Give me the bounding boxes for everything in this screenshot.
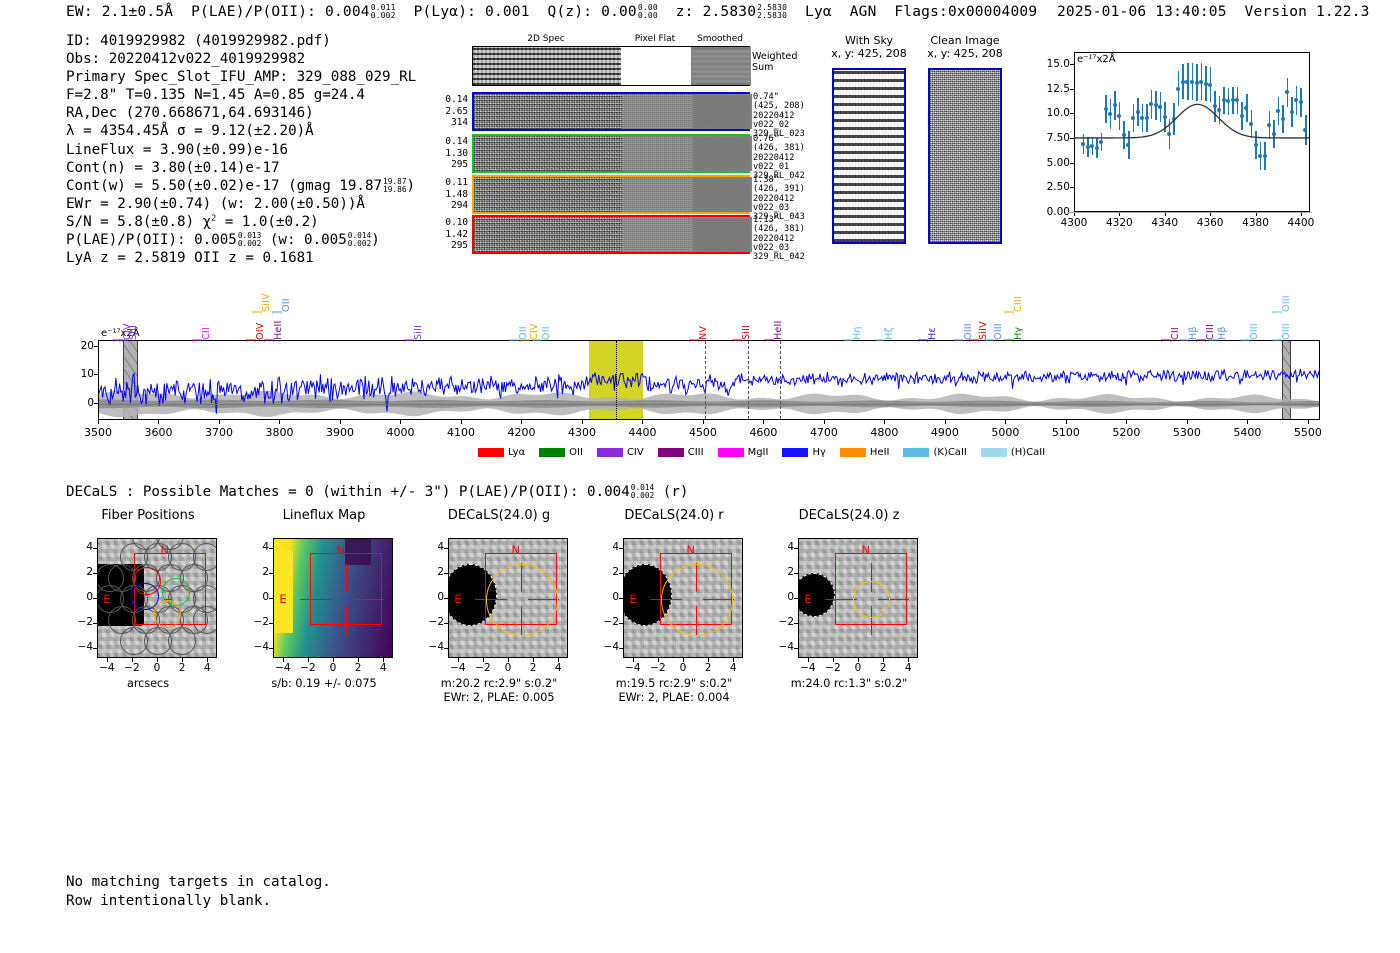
- emission-bracket-7: ⟦: [403, 338, 414, 343]
- info-id: ID: 4019929982 (4019929982.pdf): [66, 32, 416, 50]
- spec-ytick-2: [94, 346, 98, 347]
- panel-2-sub2: EWr: 2, PLAE: 0.005: [408, 691, 590, 704]
- fiber-row-3-2dspec: [474, 217, 622, 252]
- panel-3-xtick-4: 4: [719, 662, 747, 674]
- compass-north-2: N: [511, 543, 520, 557]
- panel-1-xtickmark-0: [283, 658, 284, 662]
- spec-xtick-17: [1126, 420, 1127, 424]
- panel-3-ytick-4: −4: [597, 641, 619, 653]
- panel-2-ytick-4: −4: [422, 641, 444, 653]
- z-range: 2.58302.5830: [757, 4, 787, 20]
- compass-north-4: N: [861, 543, 870, 557]
- panel-2-xtickmark-1: [483, 658, 484, 662]
- emission-label-HeII-13: HeII: [773, 296, 784, 340]
- emission-bracket-3: ⟦: [245, 338, 256, 343]
- spec-xtick-10: [703, 420, 704, 424]
- emission-bracket-25: ⟦: [1207, 338, 1218, 343]
- fiber-row-0-value-0: 0.14: [426, 94, 468, 106]
- panel-0-ytick-0: 4: [71, 541, 93, 553]
- info-snr: S/N = 5.8(±0.8) χ2 = 1.0(±0.2): [66, 213, 416, 231]
- fiber-circle-19: [193, 606, 218, 634]
- panel-3-xtick-1: −2: [644, 662, 672, 674]
- legend-swatch-2: [597, 448, 623, 457]
- panel-1-ytickmark-2: [269, 598, 273, 599]
- info-obs: Obs: 20220412v022_4019929982: [66, 50, 416, 68]
- plae-range-1: 0.0130.002: [238, 232, 261, 248]
- panel-3-xtick-2: 0: [669, 662, 697, 674]
- header-timestamp-version: 2025-01-06 13:40:05 Version 1.22.3: [1057, 4, 1370, 20]
- spec-xtick-label-18: 5300: [1163, 426, 1211, 439]
- top-cutouts: With Skyx, y: 425, 208Clean Imagex, y: 4…: [818, 34, 1018, 246]
- panel-4-xtickmark-4: [908, 658, 909, 662]
- emission-label-OIII-26: OIII: [1249, 296, 1260, 340]
- emission-label-OII-10: OII: [541, 296, 552, 340]
- spec-xtick-label-19: 5400: [1223, 426, 1271, 439]
- panel-0-ytickmark-3: [93, 623, 97, 624]
- decals-header-text: DECaLS : Possible Matches = 0 (within +/…: [66, 484, 630, 500]
- panel-2-xtick-2: 0: [494, 662, 522, 674]
- panel-4-ytick-3: −2: [772, 616, 794, 628]
- emission-label-Hη-14: Hη: [852, 296, 863, 340]
- panel-1-ytick-3: −2: [247, 616, 269, 628]
- spec-xtick-9: [642, 420, 643, 424]
- legend-swatch-0: [478, 448, 504, 457]
- panel-1-ytick-2: 0: [247, 591, 269, 603]
- spec-title-0: 2D Spec: [472, 34, 620, 44]
- emission-bracket-15: ⟦: [874, 338, 885, 343]
- weighted-sum-strip: [472, 46, 750, 86]
- panel-0-xtickmark-3: [182, 658, 183, 662]
- spec-xtick-7: [521, 420, 522, 424]
- panel-0-xtick-4: 4: [193, 662, 221, 674]
- emission-bracket-9: ⟦: [519, 338, 530, 343]
- emission-bracket-11: ⟦: [688, 338, 699, 343]
- panel-4-xtick-4: 4: [894, 662, 922, 674]
- fiber-row-3-smoothed: [692, 217, 752, 252]
- fiber-row-1: [472, 134, 750, 173]
- panel-image-2: NE: [448, 538, 568, 658]
- emission-bracket-12: ⟦: [731, 338, 742, 343]
- crosshair-v-top-1: [346, 563, 347, 592]
- fiber-row-1-values: 0.141.30295: [426, 136, 468, 171]
- weighted-sum-smoothed: [691, 47, 751, 85]
- emission-label-Hζ-15: Hζ: [884, 296, 895, 340]
- panel-4-ytickmark-3: [794, 623, 798, 624]
- ytick-label-6: 15.0: [1032, 58, 1070, 70]
- fiber-row-2-value-0: 0.11: [426, 177, 468, 189]
- panel-3-ytickmark-1: [619, 573, 623, 574]
- panel-0-xtick-0: −4: [93, 662, 121, 674]
- fiber-row-0-value-2: 314: [426, 117, 468, 129]
- cutout-title-1: Clean Image: [914, 34, 1016, 47]
- z-label: z:: [676, 4, 694, 20]
- legend-label-2: CIV: [627, 447, 644, 458]
- spec-xtick-label-9: 4400: [618, 426, 666, 439]
- legend-label-3: CIII: [688, 447, 704, 458]
- legend-swatch-3: [658, 448, 684, 457]
- emission-bracket-24: ⟦: [1195, 338, 1206, 343]
- panel-4-xtick-2: 0: [844, 662, 872, 674]
- spec-xtick-label-3: 3800: [255, 426, 303, 439]
- panel-2-xtick-4: 4: [544, 662, 572, 674]
- spec-xtick-4: [340, 420, 341, 424]
- panel-4-ytick-1: 2: [772, 566, 794, 578]
- object-info-block: ID: 4019929982 (4019929982.pdf) Obs: 202…: [66, 32, 416, 267]
- spec-xtick-2: [219, 420, 220, 424]
- version: Version 1.22.3: [1245, 4, 1370, 20]
- panel-3-ytick-1: 2: [597, 566, 619, 578]
- baseline: [1068, 212, 1312, 213]
- aperture-circle-3: [661, 564, 733, 636]
- cutout-coords-0: x, y: 425, 208: [818, 47, 920, 60]
- cutout-title-0: With Sky: [818, 34, 920, 47]
- qz-range: 0.000.00: [638, 4, 658, 20]
- panel-1-xtick-3: 2: [344, 662, 372, 674]
- z-value: 2.5830: [703, 4, 757, 20]
- spec-xtick-label-6: 4100: [437, 426, 485, 439]
- panel-2-ytickmark-0: [444, 548, 448, 549]
- panel-2-ytick-2: 0: [422, 591, 444, 603]
- panel-0-xtick-2: 0: [143, 662, 171, 674]
- panel-3-ytick-3: −2: [597, 616, 619, 628]
- emission-bracket-18: ⟦: [968, 338, 979, 343]
- dashed-line-0: [705, 341, 706, 419]
- panel-2-ytick-3: −2: [422, 616, 444, 628]
- legend-label-0: Lyα: [508, 447, 525, 458]
- spectrum-axes: [98, 340, 1320, 420]
- panel-0-ytickmark-0: [93, 548, 97, 549]
- fiber-row-2: [472, 175, 750, 214]
- spec-xtick-1: [158, 420, 159, 424]
- fiber-row-3: [472, 215, 750, 254]
- decals-header: DECaLS : Possible Matches = 0 (within +/…: [66, 484, 688, 500]
- panel-2-ytickmark-4: [444, 648, 448, 649]
- panel-1-ytick-1: 2: [247, 566, 269, 578]
- emission-bracket-28: ⟦: [1271, 338, 1282, 343]
- emission-bracket-10: ⟦: [531, 338, 542, 343]
- panel-1-ytickmark-1: [269, 573, 273, 574]
- fiber-row-2-pixelflat: [622, 177, 692, 212]
- zero-line: [99, 404, 1319, 405]
- line-name: Lyα: [805, 4, 832, 20]
- panel-3-sub2: EWr: 2, PLAE: 0.004: [583, 691, 765, 704]
- panel-2-xtick-0: −4: [444, 662, 472, 674]
- fiber-row-2-smoothed: [692, 177, 752, 212]
- emission-bracket-14: ⟦: [842, 338, 853, 343]
- emission-label-CII-2: CII: [201, 296, 212, 340]
- panel-0-ytick-3: −2: [71, 616, 93, 628]
- spec-xtick-label-20: 5500: [1284, 426, 1332, 439]
- fiber-row-0-values: 0.142.65314: [426, 94, 468, 129]
- twod-spec-panel: 2D SpecPixel FlatSmoothedWeightedSum0.14…: [462, 34, 762, 246]
- fiber-circle-20: [97, 564, 124, 592]
- panel-4-ytick-2: 0: [772, 591, 794, 603]
- panel-0-xtickmark-0: [107, 658, 108, 662]
- compass-north-3: N: [686, 543, 695, 557]
- spec-xtick-8: [582, 420, 583, 424]
- spec-xtick-label-17: 5200: [1102, 426, 1150, 439]
- fiber-row-1-smoothed: [692, 136, 752, 171]
- legend-label-5: Hγ: [812, 447, 825, 458]
- panel-3-xtickmark-3: [708, 658, 709, 662]
- legend-label-8: (H)CaII: [1011, 447, 1045, 458]
- emission-bracket-22: ⟦: [1160, 338, 1171, 343]
- panel-1-xtick-4: 4: [369, 662, 397, 674]
- panel-3-sub1: m:19.5 rc:2.9" s:0.2": [583, 677, 765, 690]
- xtick-label-1: 4320: [1101, 217, 1137, 229]
- spec-ytick-label-0: 0: [64, 397, 94, 409]
- panel-1-xtick-2: 0: [319, 662, 347, 674]
- fiber-row-2-value-2: 294: [426, 200, 468, 212]
- fiber-row-1-value-0: 0.14: [426, 136, 468, 148]
- panel-2-ytickmark-1: [444, 573, 448, 574]
- emission-bracket-8: ⟦: [508, 338, 519, 343]
- emission-label-CIV-9: CIV: [529, 296, 540, 340]
- panel-2-ytick-0: 4: [422, 541, 444, 553]
- panel-1-sub1: s/b: 0.19 +/- 0.075: [233, 677, 415, 690]
- spec-xtick-11: [763, 420, 764, 424]
- panel-1-xtickmark-3: [358, 658, 359, 662]
- emission-label-Hε-16: Hε: [927, 296, 938, 340]
- spec-title-1: Pixel Flat: [620, 34, 690, 44]
- selected-fiber-3[interactable]: [154, 600, 182, 628]
- panel-0-xlabel: arcsecs: [69, 677, 227, 690]
- info-lineflux: LineFlux = 3.90(±0.99)e-16: [66, 141, 416, 159]
- spec-xtick-label-15: 5000: [981, 426, 1029, 439]
- info-seeing: F=2.8" T=0.135 N=1.45 A=0.85 g=24.4: [66, 86, 416, 104]
- xtick-label-3: 4360: [1192, 217, 1228, 229]
- panel-image-1: NE: [273, 538, 393, 658]
- fiber-row-1-pixelflat: [622, 136, 692, 171]
- spec-xtick-label-4: 3900: [316, 426, 364, 439]
- spec-xtick-label-11: 4600: [739, 426, 787, 439]
- emission-label-SiII-12: SiII: [741, 296, 752, 340]
- panel-1-ytick-4: −4: [247, 641, 269, 653]
- emission-bracket-23: ⟦: [1178, 338, 1189, 343]
- fiber-circle-23: [193, 543, 218, 571]
- panel-1-xtick-1: −2: [294, 662, 322, 674]
- panel-title-1: Lineflux Map: [245, 508, 403, 523]
- panel-image-4: NE: [798, 538, 918, 658]
- spec-xtick-label-14: 4900: [921, 426, 969, 439]
- ytick-label-3: 7.50: [1032, 132, 1070, 144]
- panel-1-ytickmark-4: [269, 648, 273, 649]
- panel-2-xtickmark-0: [458, 658, 459, 662]
- flags: Flags:0x00004009: [894, 4, 1037, 20]
- emission-label-CIII-24: CIII: [1205, 296, 1216, 340]
- emission-label-OIII-28: OIII: [1281, 296, 1292, 340]
- emission-label-CII-22: CII: [1170, 296, 1181, 340]
- weighted-sum-pixelflat: [621, 47, 691, 85]
- weighted-sum-label2: Sum: [752, 62, 798, 73]
- decals-plae-range: 0.0140.002: [631, 484, 654, 500]
- panel-1-xtickmark-4: [383, 658, 384, 662]
- spec-xtick-label-12: 4700: [800, 426, 848, 439]
- with-sky-image: [832, 68, 906, 244]
- selected-fiber-2[interactable]: [131, 583, 159, 611]
- panel-3-ytickmark-0: [619, 548, 623, 549]
- info-redshifts: LyA z = 2.5819 OII z = 0.1681: [66, 249, 416, 267]
- fiber-row-2-2dspec: [474, 177, 622, 212]
- emission-label-Hβ-25: Hβ: [1217, 296, 1228, 340]
- xtick-label-0: 4300: [1056, 217, 1092, 229]
- panel-2-ytick-1: 2: [422, 566, 444, 578]
- spec-xtick-label-16: 5100: [1042, 426, 1090, 439]
- timestamp: 2025-01-06 13:40:05: [1057, 4, 1227, 20]
- spec-xtick-label-13: 4800: [860, 426, 908, 439]
- plya-label: P(Lyα):: [414, 4, 477, 20]
- panel-2-xtickmark-2: [508, 658, 509, 662]
- spec-xtick-15: [1005, 420, 1006, 424]
- footer-line-1: No matching targets in catalog.: [66, 873, 331, 892]
- qz-value: 0.00: [601, 4, 637, 20]
- ew-label: EW:: [66, 4, 93, 20]
- panel-0-ytick-4: −4: [71, 641, 93, 653]
- fiber-row-0: [472, 92, 750, 131]
- gmag-range: 19.8719.86: [383, 178, 406, 194]
- panel-0-xtickmark-4: [207, 658, 208, 662]
- dashed-line-2: [780, 341, 781, 419]
- cutout-coords-1: x, y: 425, 208: [914, 47, 1016, 60]
- panel-title-4: DECaLS(24.0) z: [770, 508, 928, 523]
- panel-3-ytick-2: 0: [597, 591, 619, 603]
- spec-xtick-label-5: 4000: [376, 426, 424, 439]
- plae-range-2: 0.0140.002: [348, 232, 371, 248]
- panel-1-ytickmark-3: [269, 623, 273, 624]
- emission-bracket-19: ⟦: [983, 338, 994, 343]
- fiber-row-0-meta: 0.74"(425, 208)20220412v022_02329_RL_023: [753, 93, 813, 139]
- info-plae: P(LAE)/P(OII): 0.0050.0130.002 (w: 0.005…: [66, 231, 416, 249]
- panel-title-3: DECaLS(24.0) r: [595, 508, 753, 523]
- emission-label-OII-6: OII: [281, 270, 292, 312]
- emission-label-Hβ-23: Hβ: [1188, 296, 1199, 340]
- panel-4-ytick-4: −4: [772, 641, 794, 653]
- fiber-row-3-values: 0.101.42295: [426, 217, 468, 252]
- fiber-row-2-values: 0.111.48294: [426, 177, 468, 212]
- panel-4-sub1: m:24.0 rc:1.3" s:0.2": [758, 677, 940, 690]
- panel-1-xtickmark-1: [308, 658, 309, 662]
- compass-east-2: E: [454, 592, 461, 606]
- plae-value: 0.004: [325, 4, 370, 20]
- spec-xtick-18: [1187, 420, 1188, 424]
- emission-label-Hγ-21: Hγ: [1013, 296, 1024, 340]
- panel-3-xtick-3: 2: [694, 662, 722, 674]
- panel-image-0: NE: [97, 538, 217, 658]
- info-ewr: EWr = 2.90(±0.74) (w: 2.00(±0.50))Å: [66, 195, 416, 213]
- spec-xtick-label-0: 3500: [74, 426, 122, 439]
- legend-swatch-7: [903, 448, 929, 457]
- panel-4-ytickmark-2: [794, 598, 798, 599]
- decals-header-filter: (r): [663, 484, 689, 500]
- compass-east-3: E: [629, 592, 636, 606]
- panel-4-ytick-0: 4: [772, 541, 794, 553]
- crosshair-h-left-4: [825, 599, 856, 600]
- panel-2-ytickmark-3: [444, 623, 448, 624]
- fiber-row-3-value-0: 0.10: [426, 217, 468, 229]
- full-spectrum-plot: 01020e⁻¹⁷x2Å3500360037003800390040004100…: [62, 268, 1320, 468]
- legend-label-1: OII: [569, 447, 583, 458]
- emission-bracket-16: ⟦: [917, 338, 928, 343]
- spec-ytick-0: [94, 403, 98, 404]
- info-primary-spec: Primary Spec_Slot_IFU_AMP: 329_088_029_R…: [66, 68, 416, 86]
- panel-3-xtickmark-0: [633, 658, 634, 662]
- panel-2-xtickmark-3: [533, 658, 534, 662]
- panel-2-sub1: m:20.2 rc:2.9" s:0.2": [408, 677, 590, 690]
- spec-xtick-16: [1066, 420, 1067, 424]
- emission-label-SiIV-18: SiIV: [978, 296, 989, 340]
- ytick-label-5: 12.5: [1032, 83, 1070, 95]
- xtick-label-2: 4340: [1147, 217, 1183, 229]
- spec-xtick-12: [824, 420, 825, 424]
- panel-0-xtickmark-1: [132, 658, 133, 662]
- panel-0-xtickmark-2: [157, 658, 158, 662]
- crosshair-h-left-1: [300, 599, 331, 600]
- panel-4-ytickmark-4: [794, 648, 798, 649]
- ytick-label-1: 2.50: [1032, 181, 1070, 193]
- emission-bracket-6: ⟦: [271, 310, 282, 315]
- panel-4-xtick-3: 2: [869, 662, 897, 674]
- emission-label-NV-11: NV: [698, 296, 709, 340]
- fiber-circle-18: [120, 627, 148, 655]
- fiber-row-0-smoothed: [692, 94, 752, 129]
- spec-xtick-3: [279, 420, 280, 424]
- fiber-row-1-value-2: 295: [426, 159, 468, 171]
- spec-ytick-label-2: 20: [64, 340, 94, 352]
- spec-xtick-13: [884, 420, 885, 424]
- spec-ytick-label-1: 10: [64, 368, 94, 380]
- panel-3-ytickmark-4: [619, 648, 623, 649]
- legend-label-6: HeII: [870, 447, 890, 458]
- line-profile-plot: 0.002.505.007.5010.012.515.0430043204340…: [1032, 38, 1322, 238]
- compass-north-1: N: [336, 543, 345, 557]
- ytick-label-2: 5.00: [1032, 157, 1070, 169]
- panel-4-xtick-0: −4: [794, 662, 822, 674]
- spec-xtick-label-8: 4300: [558, 426, 606, 439]
- legend-label-4: MgII: [748, 447, 769, 458]
- fiber-row-3-meta: 1.13"(426, 381)20220412v022_03329_RL_042: [753, 216, 813, 262]
- emission-bracket-17: ⟦: [953, 338, 964, 343]
- panel-0-ytickmark-4: [93, 648, 97, 649]
- spec-xtick-14: [945, 420, 946, 424]
- emission-bracket-21: ⟦: [1003, 338, 1014, 343]
- panel-1-xtick-0: −4: [269, 662, 297, 674]
- emission-label-SiII-1: SiII: [128, 296, 139, 340]
- spec-xtick-20: [1308, 420, 1309, 424]
- panel-4-ytickmark-0: [794, 548, 798, 549]
- gaussian-fit-curve: [1074, 52, 1310, 212]
- footer-line-2: Row intentionally blank.: [66, 892, 331, 911]
- emission-label-OIII-19: OIII: [993, 296, 1004, 340]
- panel-1-ytick-0: 4: [247, 541, 269, 553]
- panel-image-3: NE: [623, 538, 743, 658]
- emission-label-SiIV-5: SiIV: [261, 270, 272, 312]
- emission-label-SiII-7: SiII: [413, 296, 424, 340]
- panel-1-xtickmark-2: [333, 658, 334, 662]
- fiber-center-mark: [165, 599, 171, 600]
- panel-4-ytickmark-1: [794, 573, 798, 574]
- plae-range: 0.0110.002: [371, 4, 396, 20]
- legend-swatch-8: [981, 448, 1007, 457]
- legend-label-7: (K)CaII: [933, 447, 966, 458]
- fiber-row-3-pixelflat: [622, 217, 692, 252]
- legend-swatch-1: [539, 448, 565, 457]
- footer-note: No matching targets in catalog. Row inte…: [66, 873, 331, 910]
- emission-bracket-4: ⟦: [263, 338, 274, 343]
- compass-east-4: E: [804, 592, 811, 606]
- spec-xtick-6: [461, 420, 462, 424]
- qz-label: Q(z):: [548, 4, 593, 20]
- legend-swatch-6: [840, 448, 866, 457]
